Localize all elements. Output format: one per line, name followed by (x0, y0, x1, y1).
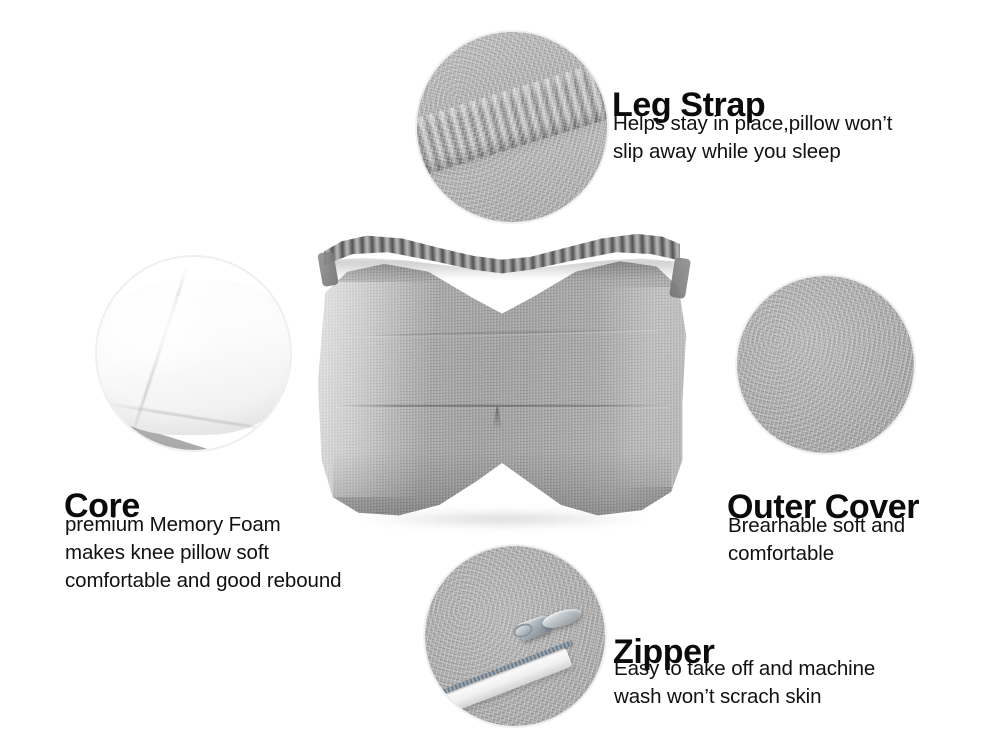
leg-strap-description-line-2: slip away while you sleep (613, 138, 983, 166)
pillow-center-seam (336, 405, 667, 407)
leg-strap-description-line-1: Helps stay in place,pillow won’t (613, 110, 983, 138)
outer-cover-photo (737, 276, 914, 453)
zipper-description: Easy to take off and machine wash won’t … (614, 655, 994, 711)
zipper-photo (425, 546, 605, 726)
leg-strap-detail-image (417, 32, 607, 222)
leg-strap-description: Helps stay in place,pillow won’t slip aw… (613, 110, 983, 166)
zipper-detail-image (425, 546, 605, 726)
product-image (318, 232, 686, 522)
outer-cover-description: Brearhable soft and comfortable (728, 512, 988, 568)
outer-cover-detail-image (737, 276, 914, 453)
core-description-line-2: makes knee pillow soft (65, 539, 395, 567)
pillow-bottom-shading (333, 450, 672, 518)
pillow-body (318, 256, 686, 518)
leg-strap-fabric-texture (417, 32, 607, 222)
core-highlight (112, 296, 228, 383)
core-description: premium Memory Foam makes knee pillow so… (65, 511, 395, 595)
core-detail-image (97, 257, 290, 450)
outer-cover-description-line-1: Brearhable soft and (728, 512, 988, 540)
infographic-canvas: Leg Strap Helps stay in place,pillow won… (0, 0, 1000, 750)
core-photo (97, 257, 290, 450)
outer-cover-description-line-2: comfortable (728, 540, 988, 568)
outer-cover-velour-texture (737, 276, 914, 453)
zipper-description-line-2: wash won’t scrach skin (614, 683, 994, 711)
core-description-line-3: comfortable and good rebound (65, 567, 395, 595)
zipper-description-line-1: Easy to take off and machine (614, 655, 994, 683)
leg-strap-photo (417, 32, 607, 222)
